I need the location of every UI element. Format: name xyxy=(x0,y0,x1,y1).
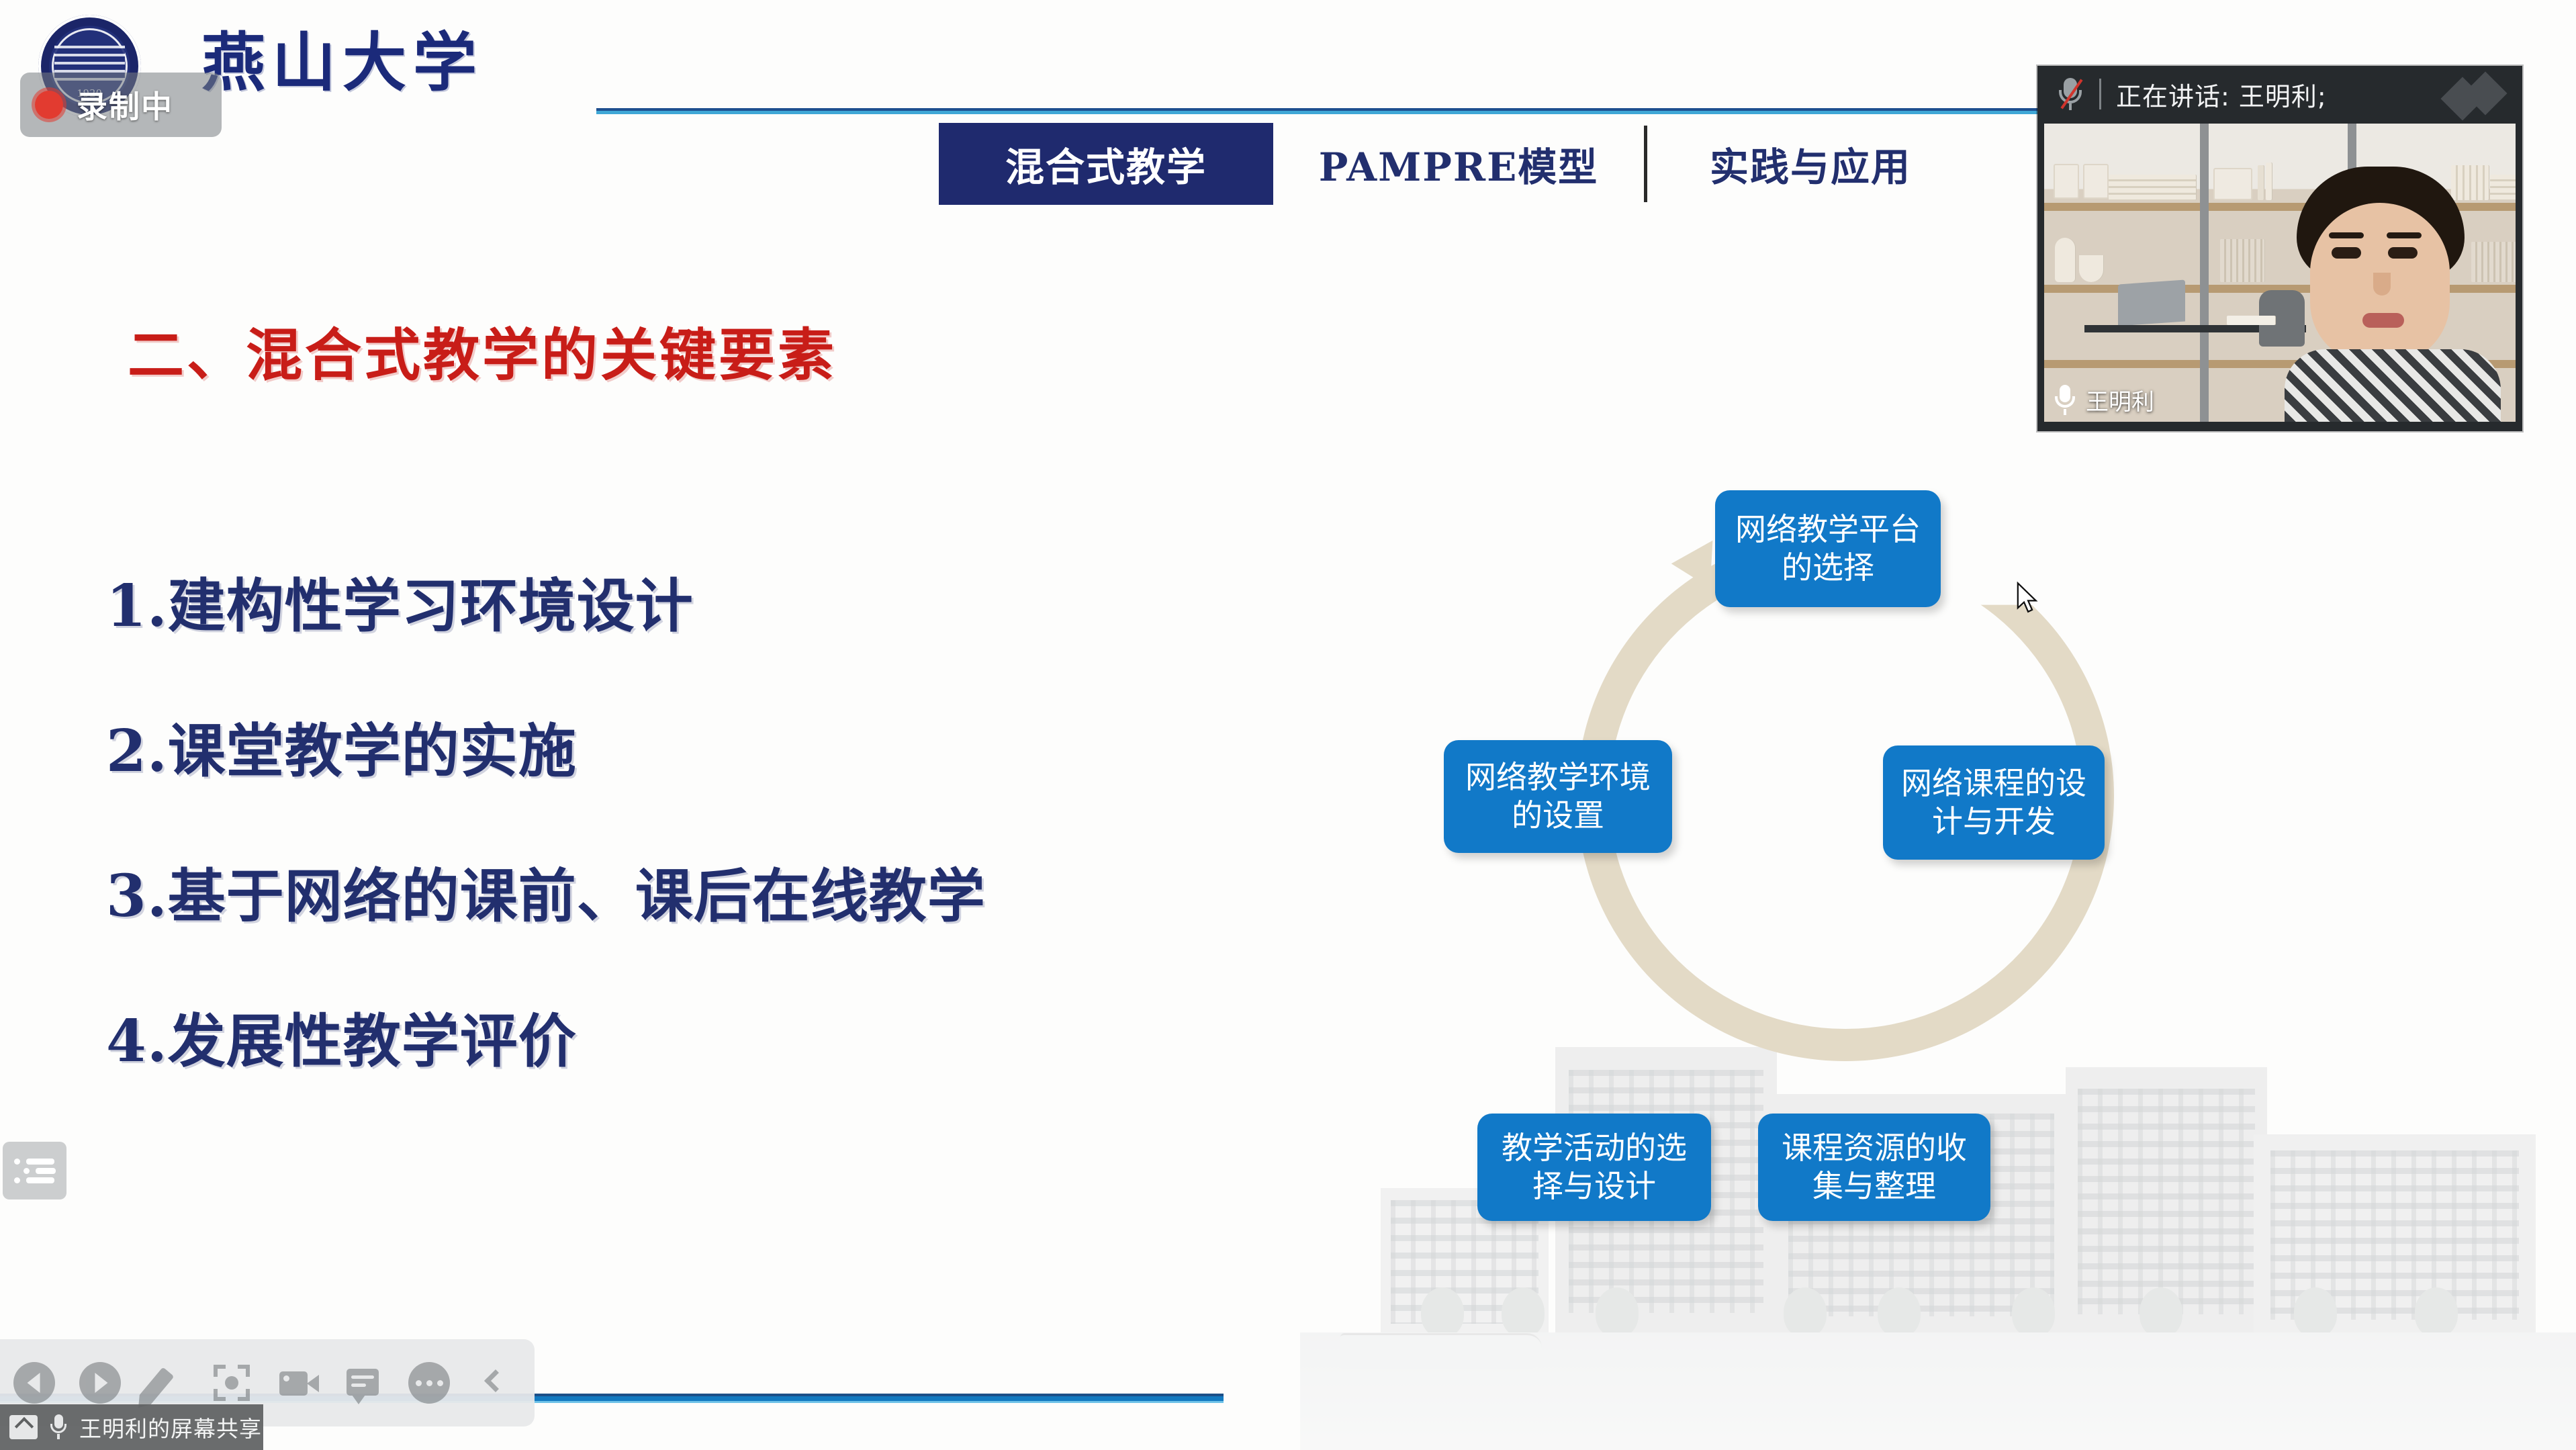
video-feed: 王明利 xyxy=(2044,124,2516,422)
tab-pampre-model[interactable]: PAMPRE模型 xyxy=(1273,123,1644,205)
screen-share-icon xyxy=(9,1415,38,1439)
header-divider-rule xyxy=(596,108,2104,114)
list-item: 3.基于网络的课前、课后在线教学 xyxy=(106,868,1449,925)
header-separator xyxy=(2099,79,2101,109)
key-elements-list: 1.建构性学习环境设计 2.课堂教学的实施 3.基于网络的课前、课后在线教学 4… xyxy=(106,578,1449,1158)
recording-badge: 录制中 xyxy=(20,73,222,137)
page-title: 二、混合式教学的关键要素 xyxy=(128,310,837,392)
video-camera-icon[interactable] xyxy=(277,1362,318,1404)
cycle-node-environment-setup: 网络教学环境 的设置 xyxy=(1444,740,1672,853)
participant-name-label: 王明利 xyxy=(2086,383,2154,416)
share-status-label: 王明利的屏幕共享 xyxy=(79,1411,262,1443)
list-item: 1.建构性学习环境设计 xyxy=(106,578,1449,635)
speaker-video-panel[interactable]: 正在讲话: 王明利; xyxy=(2037,66,2522,431)
collapse-toolbar-icon[interactable] xyxy=(474,1362,516,1404)
mic-icon xyxy=(50,1414,67,1440)
recording-label: 录制中 xyxy=(77,83,173,127)
tab-blended-teaching[interactable]: 混合式教学 xyxy=(939,123,1273,205)
list-item: 2.课堂教学的实施 xyxy=(106,723,1449,780)
cycle-node-activity-design: 教学活动的选 择与设计 xyxy=(1477,1114,1711,1221)
annotate-pen-icon[interactable] xyxy=(145,1362,187,1404)
chat-icon[interactable] xyxy=(342,1362,384,1404)
recording-dot-icon xyxy=(35,91,63,119)
video-panel-header: 正在讲话: 王明利; xyxy=(2037,66,2522,122)
outline-list-icon xyxy=(14,1155,56,1187)
cycle-node-resource-collection: 课程资源的收 集与整理 xyxy=(1758,1114,1990,1221)
list-item: 4.发展性教学评价 xyxy=(106,1013,1449,1071)
screen-share-slide: 1920 燕山大学 混合式教学 PAMPRE模型 实践与应用 二、混合式教学的关… xyxy=(0,0,2576,1450)
meeting-app-logo-icon xyxy=(2447,75,2505,111)
mouse-cursor-icon xyxy=(2016,582,2039,615)
cycle-node-platform-selection: 网络教学平台 的选择 xyxy=(1715,490,1941,607)
online-teaching-cycle-diagram: 网络教学平台 的选择 网络课程的设 计与开发 课程资源的收 集与整理 教学活动的… xyxy=(1457,490,2303,1242)
screen-share-status-bar: 王明利的屏幕共享 xyxy=(0,1404,263,1450)
next-slide-button[interactable] xyxy=(79,1362,121,1404)
tab-practice-application[interactable]: 实践与应用 xyxy=(1647,123,1974,205)
slide-nav-tabs: 混合式教学 PAMPRE模型 实践与应用 xyxy=(939,123,1974,205)
spotlight-focus-icon[interactable] xyxy=(211,1362,252,1404)
mic-muted-icon xyxy=(2056,77,2084,111)
cycle-node-course-design: 网络课程的设 计与开发 xyxy=(1883,745,2105,860)
previous-slide-button[interactable] xyxy=(13,1362,55,1404)
outline-list-button[interactable] xyxy=(3,1142,66,1199)
active-speaker-label: 正在讲话: 王明利; xyxy=(2116,76,2327,113)
mic-icon xyxy=(2054,385,2076,416)
participant-name-badge: 王明利 xyxy=(2054,383,2154,416)
participant-avatar xyxy=(2282,167,2503,422)
university-name: 燕山大学 xyxy=(201,31,484,95)
more-options-icon[interactable] xyxy=(408,1362,450,1404)
